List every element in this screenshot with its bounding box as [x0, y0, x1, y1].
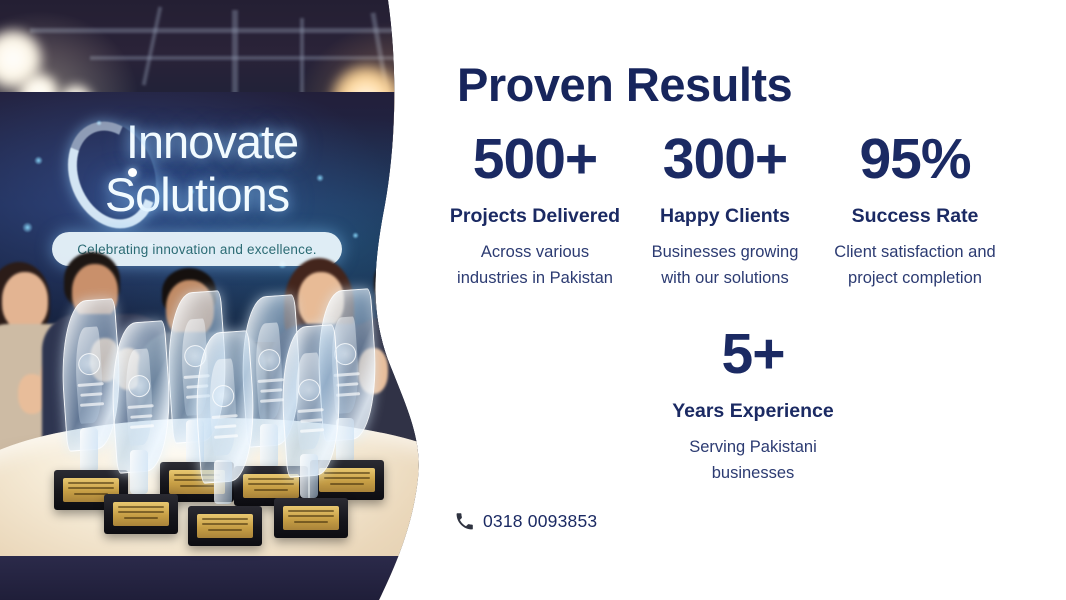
stat-label: Success Rate	[824, 205, 1006, 227]
stat-description-line: Client satisfaction and	[834, 243, 995, 261]
banner-line-1: Innovate	[0, 118, 390, 165]
stat-description-line: Across various	[481, 243, 589, 261]
stat-description: Businesses growing with our solutions	[634, 240, 816, 291]
truss-beam	[142, 6, 163, 85]
table-skirt	[0, 556, 430, 600]
phone-number: 0318 0093853	[483, 511, 597, 532]
stat-label: Happy Clients	[634, 205, 816, 227]
stat-value: 5+	[662, 326, 844, 383]
photo-panel: Innovate Solutions Celebrating innovatio…	[0, 0, 430, 600]
stat-happy-clients: 300+ Happy Clients Businesses growing wi…	[630, 131, 820, 292]
phone-icon	[455, 512, 474, 531]
stat-description: Across various industries in Pakistan	[444, 240, 626, 291]
content-panel: Proven Results 500+ Projects Delivered A…	[440, 0, 1066, 600]
stat-description-line: Serving Pakistani	[689, 438, 816, 456]
stat-description-line: businesses	[712, 464, 795, 482]
stat-description-line: industries in Pakistan	[457, 269, 613, 287]
stat-value: 500+	[444, 131, 626, 188]
page-title: Proven Results	[457, 57, 792, 112]
stat-description-line: Businesses growing	[652, 243, 799, 261]
stats-row-secondary: 5+ Years Experience Serving Pakistani bu…	[440, 326, 1066, 487]
stat-description: Client satisfaction and project completi…	[824, 240, 1006, 291]
stat-value: 95%	[824, 131, 1006, 188]
banner-line-2: Solutions	[0, 171, 390, 218]
stat-description: Serving Pakistani businesses	[662, 435, 844, 486]
stat-value: 300+	[634, 131, 816, 188]
stage-banner: Innovate Solutions Celebrating innovatio…	[0, 104, 390, 274]
stat-label: Projects Delivered	[444, 205, 626, 227]
stat-description-line: project completion	[848, 269, 982, 287]
contact-phone[interactable]: 0318 0093853	[455, 511, 597, 532]
stat-description-line: with our solutions	[661, 269, 788, 287]
logo-dot-icon	[128, 168, 137, 177]
stat-label: Years Experience	[662, 400, 844, 422]
stat-years-experience: 5+ Years Experience Serving Pakistani bu…	[658, 326, 848, 487]
stat-success-rate: 95% Success Rate Client satisfaction and…	[820, 131, 1010, 292]
stat-projects-delivered: 500+ Projects Delivered Across various i…	[440, 131, 630, 292]
stats-row-primary: 500+ Projects Delivered Across various i…	[440, 131, 1066, 292]
slide-root: Innovate Solutions Celebrating innovatio…	[0, 0, 1066, 600]
award-ceremony-photo: Innovate Solutions Celebrating innovatio…	[0, 0, 430, 600]
